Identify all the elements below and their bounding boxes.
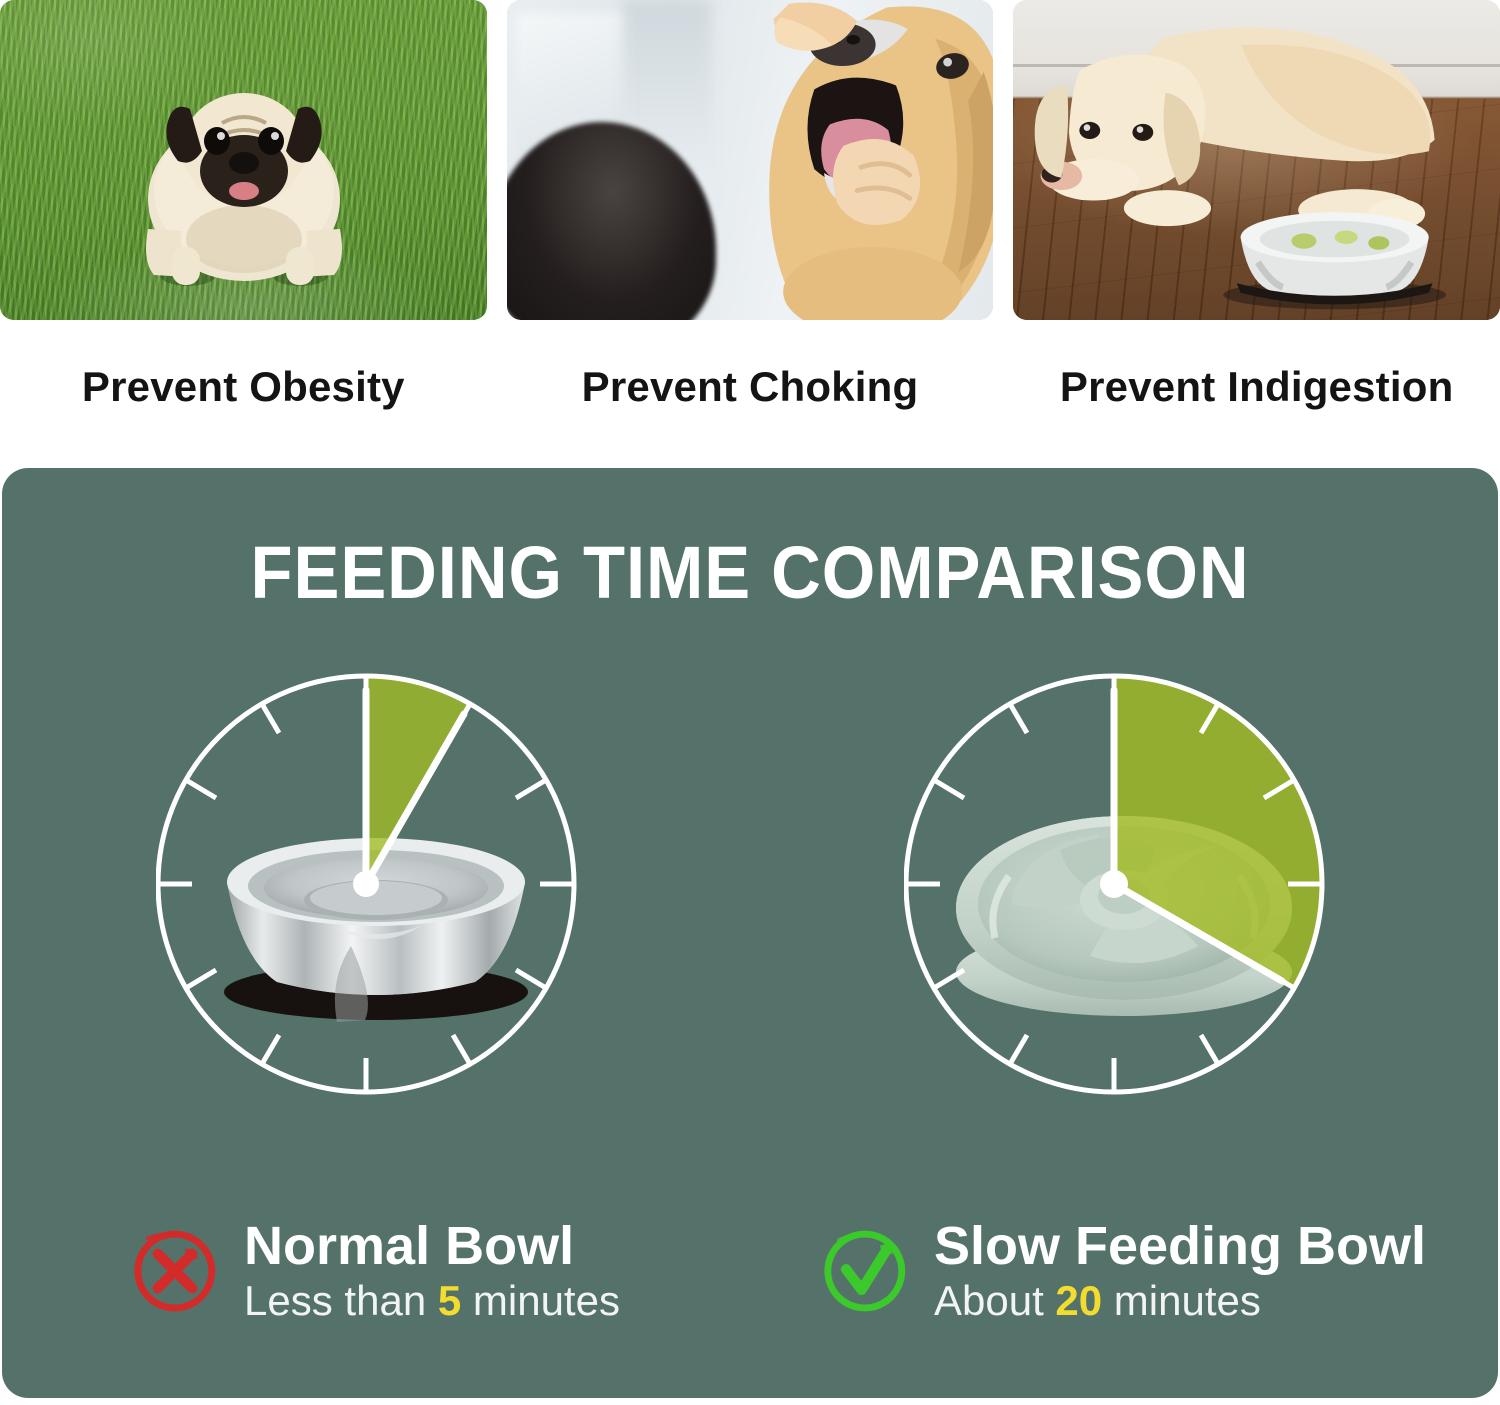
benefit-caption-choking: Prevent Choking bbox=[507, 363, 994, 411]
circle-check-icon bbox=[822, 1228, 908, 1314]
result-sub-normal: Less than 5 minutes bbox=[244, 1278, 620, 1324]
result-sub-prefix-slow: About bbox=[934, 1277, 1055, 1324]
clock-cell-normal-bowl bbox=[2, 668, 750, 1148]
overweight-pug-illustration bbox=[118, 79, 368, 294]
clock-dial-slow bbox=[904, 668, 1344, 1138]
result-sub-slow: About 20 minutes bbox=[934, 1278, 1426, 1324]
benefit-caption-row: Prevent Obesity Prevent Choking Prevent … bbox=[0, 322, 1500, 452]
clock-dial-row bbox=[2, 668, 1498, 1148]
result-slow-bowl: Slow Feeding Bowl About 20 minutes bbox=[750, 1196, 1498, 1346]
result-title-normal: Normal Bowl bbox=[244, 1218, 620, 1275]
benefit-photo-indigestion bbox=[1013, 0, 1500, 320]
benefit-photo-choking bbox=[507, 0, 994, 320]
result-sub-value-normal: 5 bbox=[438, 1277, 461, 1324]
circle-x-icon bbox=[132, 1228, 218, 1314]
benefit-photo-row bbox=[0, 0, 1500, 320]
result-sub-suffix-normal: minutes bbox=[461, 1277, 620, 1324]
result-title-slow: Slow Feeding Bowl bbox=[934, 1218, 1426, 1275]
stainless-bowl-photo bbox=[1213, 195, 1456, 310]
clock-cell-slow-bowl bbox=[750, 668, 1498, 1148]
comparison-result-row: Normal Bowl Less than 5 minutes Slow Fee… bbox=[2, 1196, 1498, 1346]
panel-title: FEEDING TIME COMPARISON bbox=[54, 530, 1445, 615]
result-sub-value-slow: 20 bbox=[1055, 1277, 1102, 1324]
benefit-caption-obesity: Prevent Obesity bbox=[0, 363, 487, 411]
clock-dial-normal bbox=[156, 668, 596, 1138]
result-normal-bowl: Normal Bowl Less than 5 minutes bbox=[2, 1196, 750, 1346]
benefit-photo-obesity bbox=[0, 0, 487, 320]
comparison-panel: FEEDING TIME COMPARISON bbox=[2, 468, 1498, 1398]
infographic-page: Prevent Obesity Prevent Choking Prevent … bbox=[0, 0, 1500, 1405]
result-sub-suffix-slow: minutes bbox=[1102, 1277, 1261, 1324]
result-sub-prefix-normal: Less than bbox=[244, 1277, 438, 1324]
benefit-caption-indigestion: Prevent Indigestion bbox=[1013, 363, 1500, 411]
